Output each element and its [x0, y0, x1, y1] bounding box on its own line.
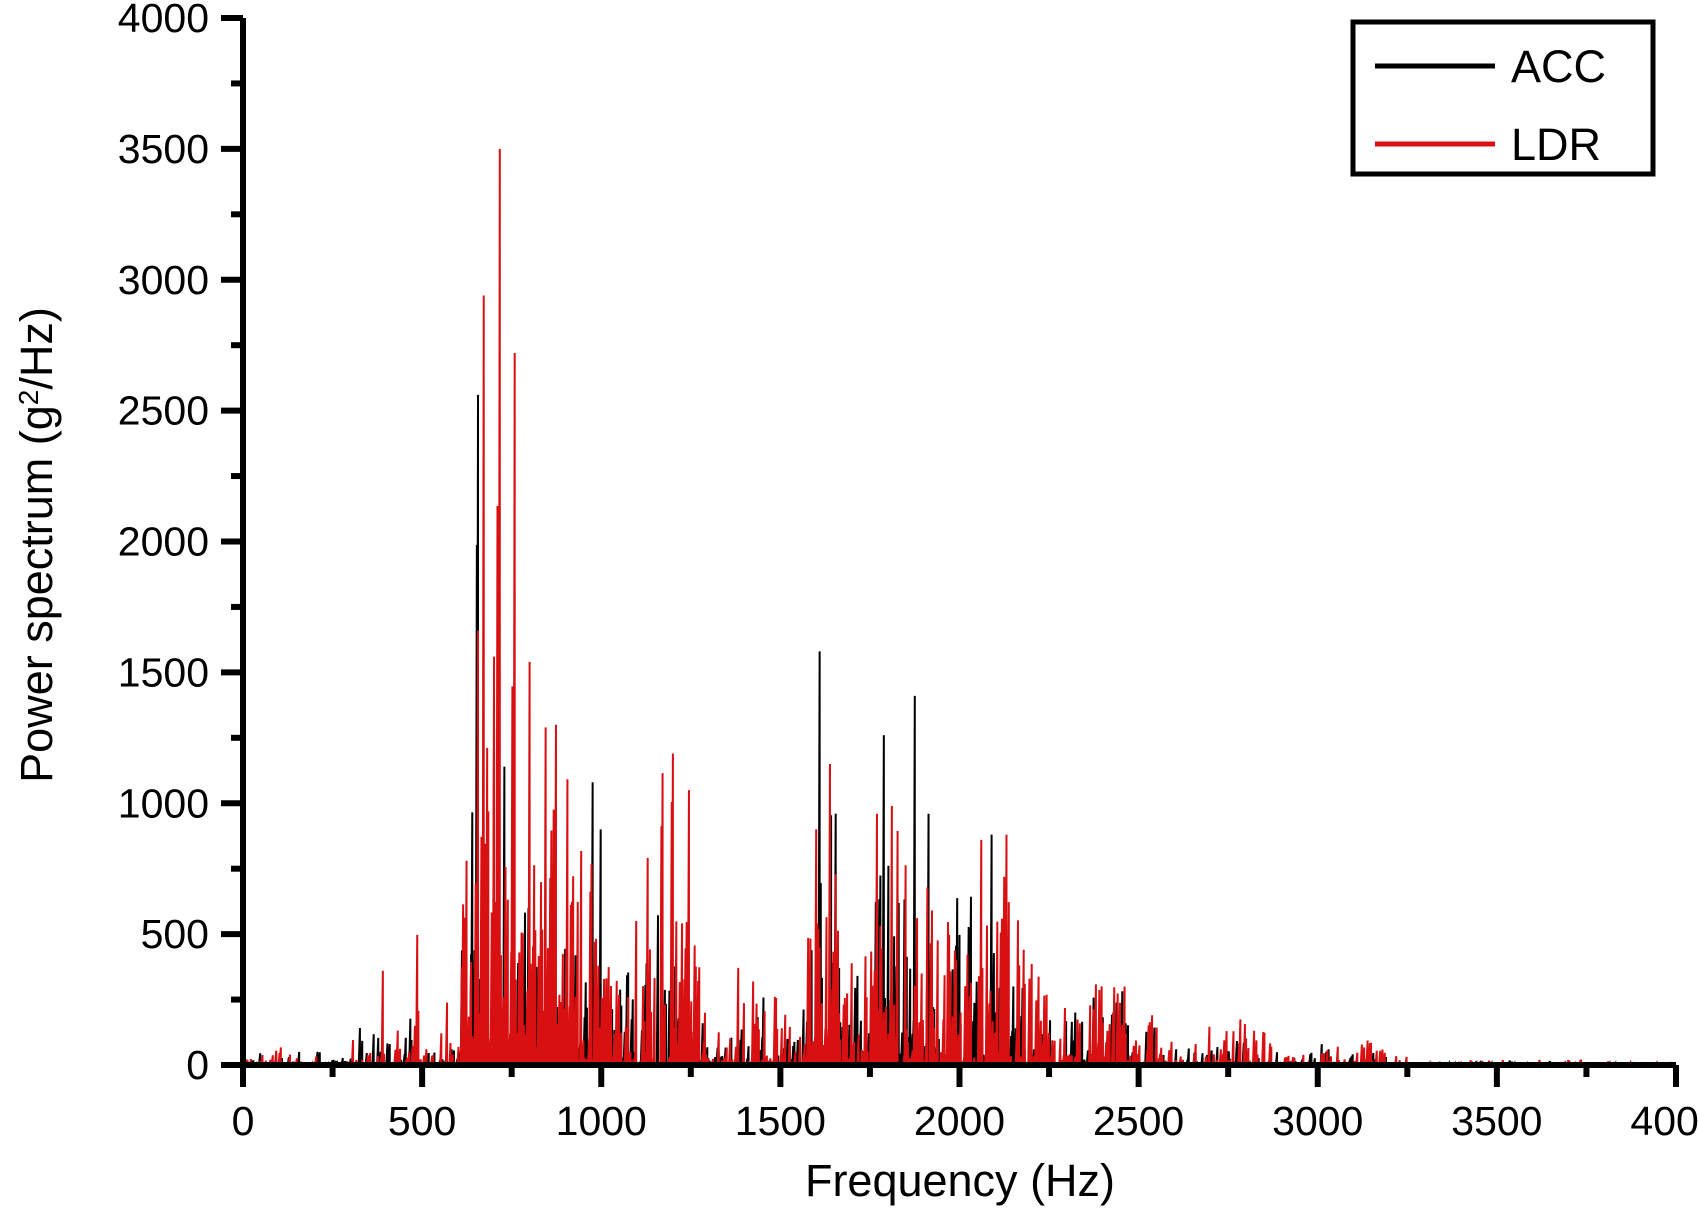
- y-tick-label: 500: [141, 911, 209, 957]
- legend-label-ldr[interactable]: LDR: [1511, 119, 1601, 170]
- y-axis-title-prefix: Power spectrum (g: [11, 405, 62, 783]
- y-tick-label: 1500: [118, 649, 209, 695]
- x-tick-label: 500: [388, 1098, 456, 1144]
- power-spectrum-figure: 0500100015002000250030003500400005001000…: [0, 0, 1698, 1227]
- x-tick-label: 0: [232, 1098, 255, 1144]
- y-tick-label: 3000: [118, 257, 209, 303]
- y-axis-title: Power spectrum (g2/Hz): [11, 307, 62, 783]
- x-tick-label: 1500: [735, 1098, 826, 1144]
- x-tick-label: 4000: [1630, 1098, 1698, 1144]
- y-tick-label: 2500: [118, 388, 209, 434]
- x-tick-label: 3500: [1451, 1098, 1542, 1144]
- y-axis-title-suffix: /Hz): [11, 307, 62, 390]
- y-tick-label: 3500: [118, 126, 209, 172]
- legend-label-acc[interactable]: ACC: [1511, 41, 1606, 92]
- y-tick-label: 2000: [118, 519, 209, 565]
- x-axis-title: Frequency (Hz): [805, 1155, 1115, 1206]
- x-tick-label: 2500: [1093, 1098, 1184, 1144]
- legend[interactable]: ACCLDR: [1353, 22, 1653, 174]
- x-tick-label: 1000: [556, 1098, 647, 1144]
- y-tick-label: 4000: [118, 0, 209, 41]
- y-tick-label: 1000: [118, 780, 209, 826]
- legend-box: [1353, 22, 1653, 174]
- y-tick-label: 0: [186, 1042, 209, 1088]
- x-tick-label: 3000: [1272, 1098, 1363, 1144]
- y-axis-title-superscript: 2: [13, 390, 44, 406]
- svg-text:Power spectrum (g2/Hz): Power spectrum (g2/Hz): [11, 307, 62, 783]
- x-tick-label: 2000: [914, 1098, 1005, 1144]
- chart-canvas: 0500100015002000250030003500400005001000…: [0, 0, 1698, 1227]
